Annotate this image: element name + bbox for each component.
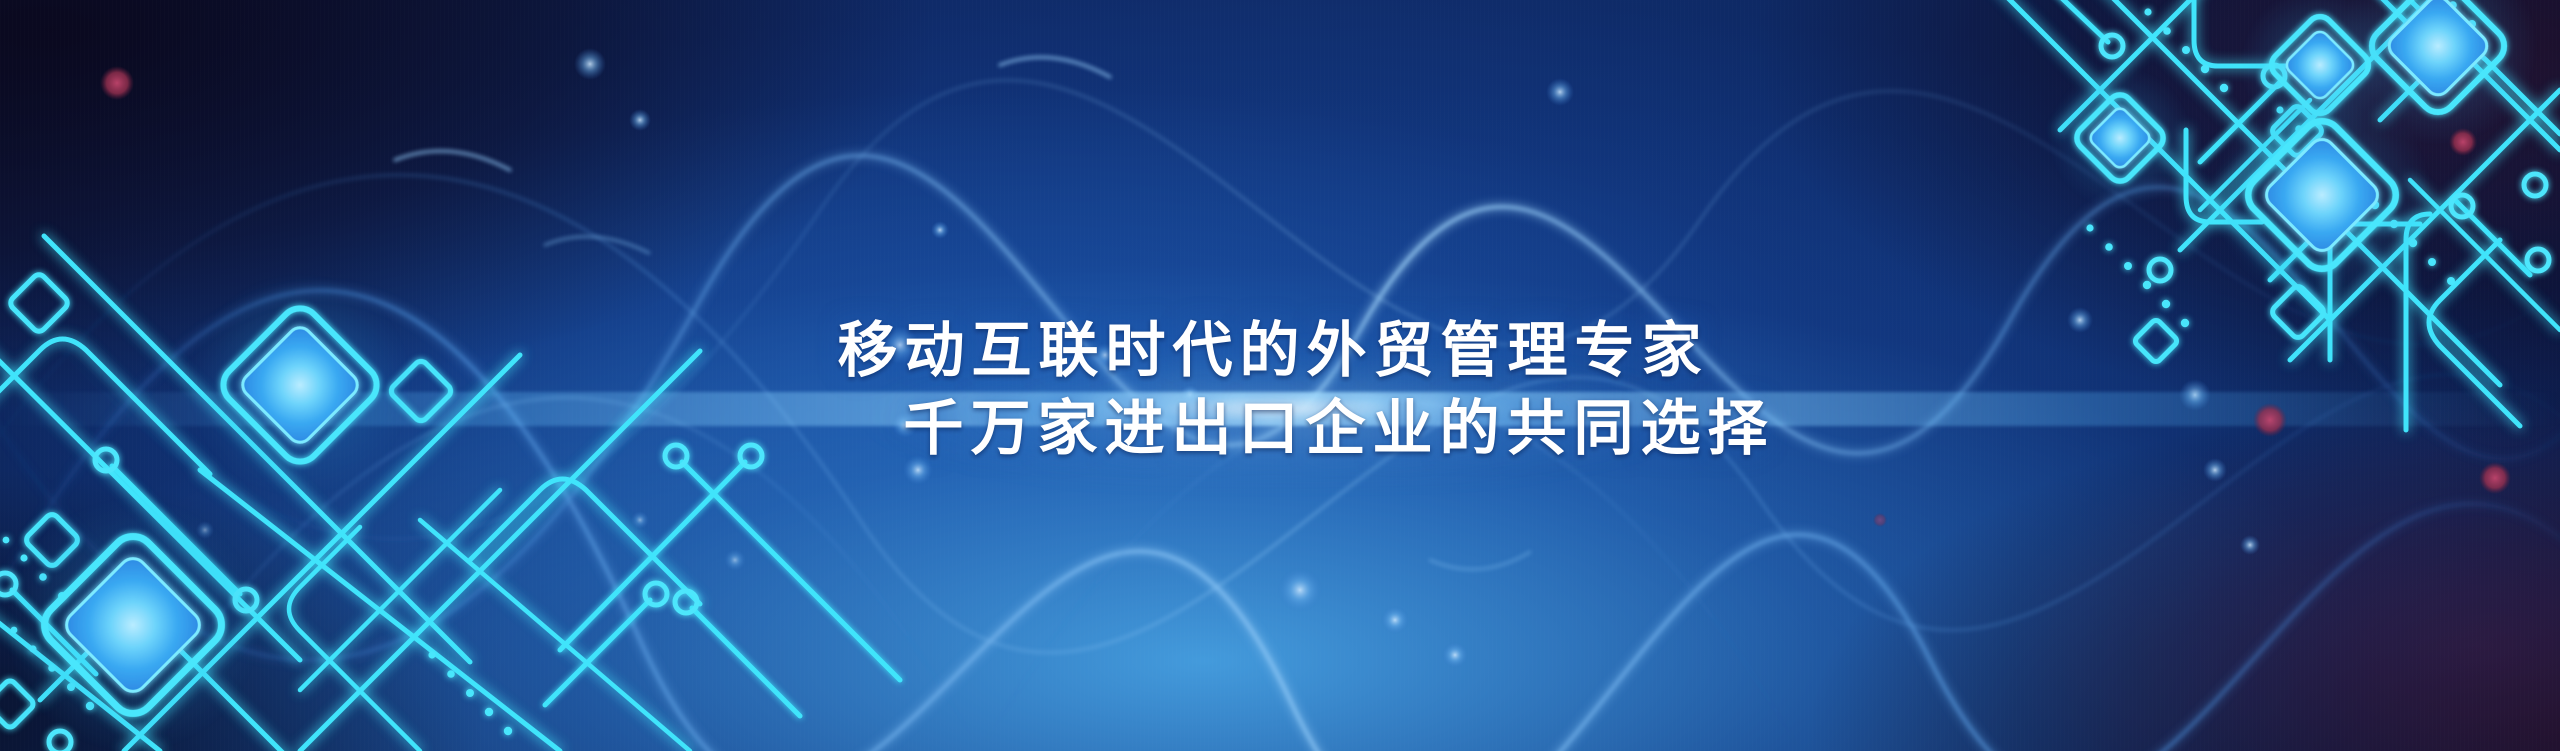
accent-dot [2253, 403, 2287, 437]
accent-dot [100, 66, 134, 100]
hero-banner: 移动互联时代的外贸管理专家 千万家进出口企业的共同选择 [0, 0, 2560, 751]
accent-dot [2449, 128, 2477, 156]
crimson-accent-dots [0, 0, 2560, 751]
accent-dot [1873, 513, 1887, 527]
accent-dot [2479, 462, 2511, 494]
